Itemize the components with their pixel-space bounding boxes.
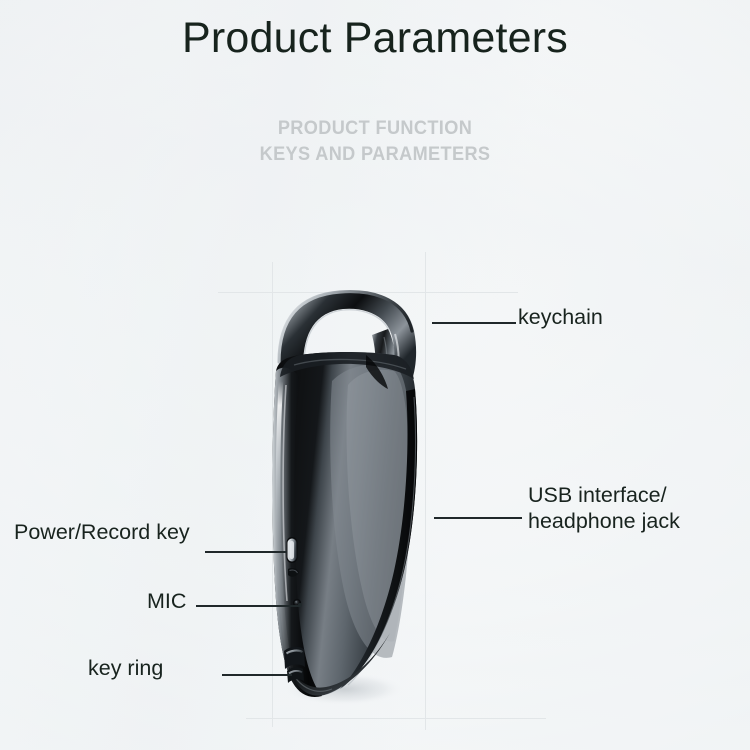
- product-image: [248, 285, 448, 710]
- subtitle-line-1: PRODUCT FUNCTION: [26, 115, 724, 141]
- callout-label-usb: USB interface/ headphone jack: [528, 483, 680, 534]
- subtitle-line-2: KEYS AND PARAMETERS: [26, 141, 724, 167]
- callout-label-keyring: key ring: [88, 656, 163, 682]
- page-title: Product Parameters: [0, 14, 750, 62]
- callout-label-power: Power/Record key: [14, 520, 190, 546]
- product-parameters-infographic: Product Parameters PRODUCT FUNCTION KEYS…: [0, 0, 750, 750]
- leader-line-mic: [196, 605, 300, 607]
- voice-recorder-illustration: [248, 285, 448, 710]
- callout-label-usb-line-2: headphone jack: [528, 509, 680, 535]
- leader-endpoint-mic: [298, 603, 302, 607]
- recorder-body: [272, 352, 417, 697]
- leader-line-keyring: [222, 674, 292, 676]
- leader-line-power: [205, 551, 287, 553]
- leader-line-keychain: [432, 322, 516, 324]
- page-subtitle: PRODUCT FUNCTION KEYS AND PARAMETERS: [0, 115, 750, 167]
- leader-line-usb: [434, 517, 522, 519]
- callout-label-usb-line-1: USB interface/: [528, 483, 680, 509]
- power-record-key[interactable]: [287, 537, 300, 577]
- callout-label-mic: MIC: [147, 589, 186, 615]
- guide-line-horizontal-bottom: [246, 718, 546, 719]
- callout-label-keychain: keychain: [518, 305, 603, 331]
